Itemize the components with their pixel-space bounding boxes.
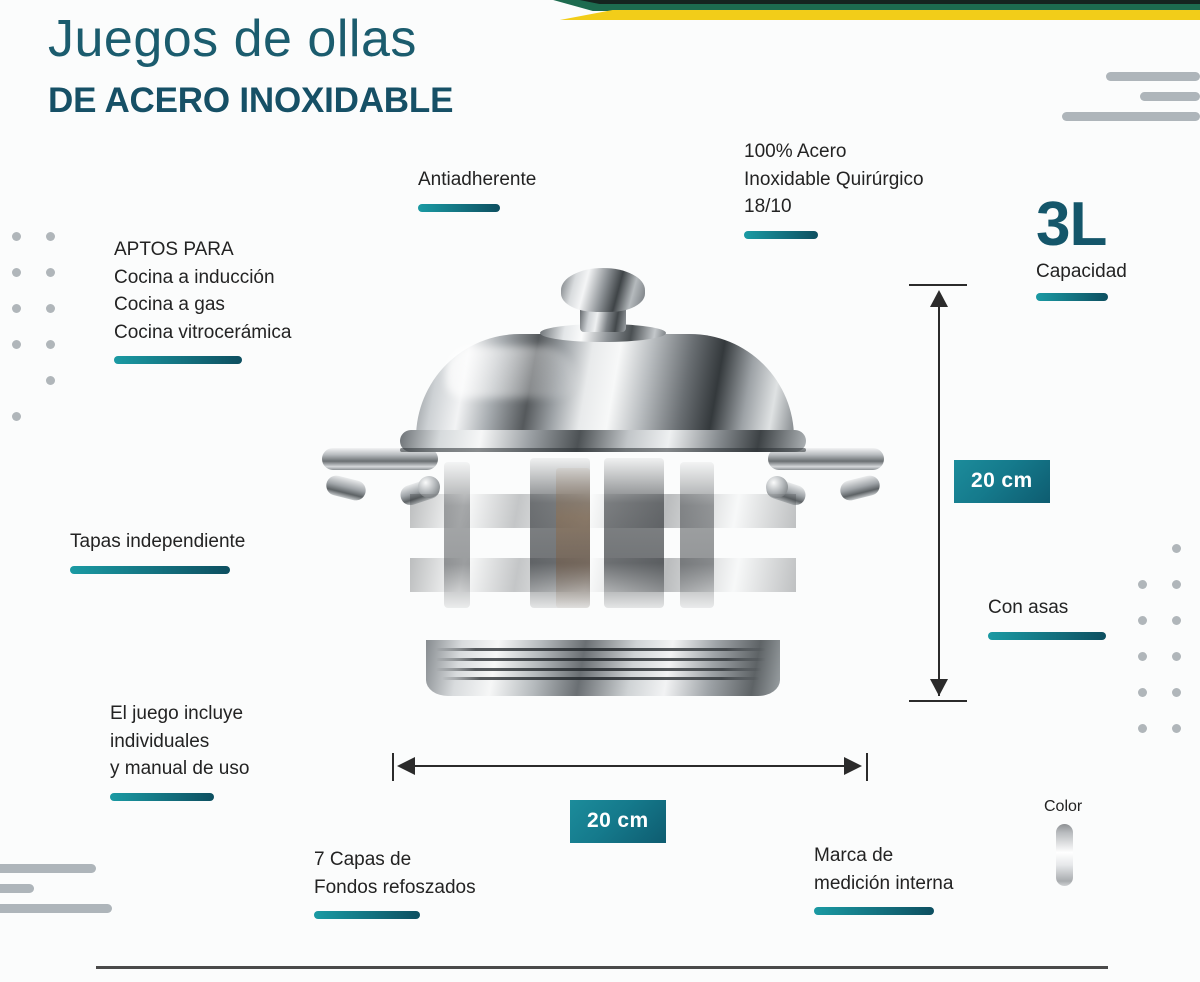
pot-knob xyxy=(561,268,645,312)
feature-underline xyxy=(418,204,500,212)
dimension-cap-bottom xyxy=(909,700,967,702)
dot xyxy=(46,232,55,241)
color-option-block: Color xyxy=(1044,798,1082,886)
width-badge: 20 cm xyxy=(570,800,666,843)
page-title: Juegos de ollas xyxy=(48,10,417,70)
dot xyxy=(1138,688,1147,697)
arrow-left-icon xyxy=(397,757,415,775)
infographic-canvas: Juegos de ollas DE ACERO INOXIDABLE xyxy=(0,0,1200,982)
arrow-right-icon xyxy=(844,757,862,775)
dot xyxy=(1172,544,1181,553)
dot xyxy=(12,304,21,313)
dot xyxy=(1172,724,1181,733)
banner-yellow-stripe xyxy=(540,10,1200,20)
feature-acero-inoxidable: 100% Acero Inoxidable Quirúrgico 18/10 xyxy=(744,138,974,239)
feature-el-juego-incluye: El juego incluye individuales y manual d… xyxy=(110,700,360,801)
arrow-up-icon xyxy=(930,290,948,307)
feature-label: Antiadherente xyxy=(418,166,598,194)
dot xyxy=(12,340,21,349)
dot xyxy=(1138,724,1147,733)
banner-dark-edge xyxy=(540,0,1200,4)
dot-empty xyxy=(1138,544,1147,553)
feature-label: Con asas xyxy=(988,594,1148,622)
deco-bar-tr-1 xyxy=(1106,72,1200,81)
capacity-underline xyxy=(1036,293,1108,301)
feature-label: APTOS PARA Cocina a inducción Cocina a g… xyxy=(114,236,374,346)
feature-antiadherente: Antiadherente xyxy=(418,166,598,212)
dot xyxy=(1138,652,1147,661)
dot xyxy=(12,268,21,277)
feature-underline xyxy=(814,907,934,915)
pot-base-ridge xyxy=(436,658,766,661)
feature-underline xyxy=(70,566,230,574)
capacity-label: Capacidad xyxy=(1036,261,1127,283)
dot xyxy=(12,232,21,241)
pot-reflection-dark-3 xyxy=(444,462,470,608)
feature-marca-de-medicion: Marca de medición interna xyxy=(814,842,1044,915)
arrow-down-icon xyxy=(930,679,948,696)
dot-grid-left xyxy=(12,232,80,448)
deco-bar-tr-2 xyxy=(1140,92,1200,101)
capacity-value: 3L xyxy=(1036,196,1127,255)
feature-label: 100% Acero Inoxidable Quirúrgico 18/10 xyxy=(744,138,974,221)
feature-label: Marca de medición interna xyxy=(814,842,1044,897)
feature-underline xyxy=(114,356,242,364)
page-subtitle: DE ACERO INOXIDABLE xyxy=(48,80,453,122)
deco-bar-tr-3 xyxy=(1062,112,1200,121)
top-banner xyxy=(540,0,1200,26)
feature-label: Tapas independiente xyxy=(70,528,330,556)
bottom-divider xyxy=(96,966,1108,969)
deco-bar-bl-1 xyxy=(0,864,96,873)
deco-bar-bl-2 xyxy=(0,884,34,893)
dot xyxy=(1172,652,1181,661)
pot-base-ridge xyxy=(436,648,766,651)
dot xyxy=(46,376,55,385)
dimension-stem-vertical xyxy=(938,292,940,696)
dot xyxy=(1138,580,1147,589)
dot-empty xyxy=(46,412,55,421)
capacity-block: 3L Capacidad xyxy=(1036,196,1127,301)
dimension-stem-horizontal xyxy=(400,765,860,767)
color-swatch-silver[interactable] xyxy=(1056,824,1073,886)
dimension-cap-left xyxy=(392,753,394,781)
feature-aptos-para: APTOS PARA Cocina a inducción Cocina a g… xyxy=(114,236,374,364)
pot-base-ridge xyxy=(442,677,760,680)
pot-reflection-dark-4 xyxy=(680,462,714,608)
feature-underline xyxy=(314,911,420,919)
pot-reflection-warm xyxy=(556,468,590,608)
dot xyxy=(1172,616,1181,625)
dot-empty xyxy=(12,376,21,385)
height-badge: 20 cm xyxy=(954,460,1050,503)
dot xyxy=(46,268,55,277)
feature-tapas-independiente: Tapas independiente xyxy=(70,528,330,574)
dot xyxy=(46,340,55,349)
dot xyxy=(1172,688,1181,697)
feature-underline xyxy=(110,793,214,801)
feature-underline xyxy=(988,632,1106,640)
feature-con-asas: Con asas xyxy=(988,594,1148,640)
pot-reflection-dark-2 xyxy=(604,458,664,608)
product-image-stock-pot xyxy=(318,262,888,682)
feature-capas-de-fondos: 7 Capas de Fondos refoszados xyxy=(314,846,564,919)
pot-base-ridge xyxy=(436,668,762,671)
dot xyxy=(1172,580,1181,589)
pot-lid-highlight xyxy=(446,346,576,398)
feature-underline xyxy=(744,231,818,239)
deco-bar-bl-3 xyxy=(0,904,112,913)
dot xyxy=(46,304,55,313)
feature-label: El juego incluye individuales y manual d… xyxy=(110,700,360,783)
dot-grid-right xyxy=(1138,544,1200,760)
dimension-cap-right xyxy=(866,753,868,781)
dimension-line-width xyxy=(392,755,872,783)
dot xyxy=(12,412,21,421)
dimension-cap-top xyxy=(909,284,967,286)
feature-label: 7 Capas de Fondos refoszados xyxy=(314,846,564,901)
color-label: Color xyxy=(1044,798,1082,816)
